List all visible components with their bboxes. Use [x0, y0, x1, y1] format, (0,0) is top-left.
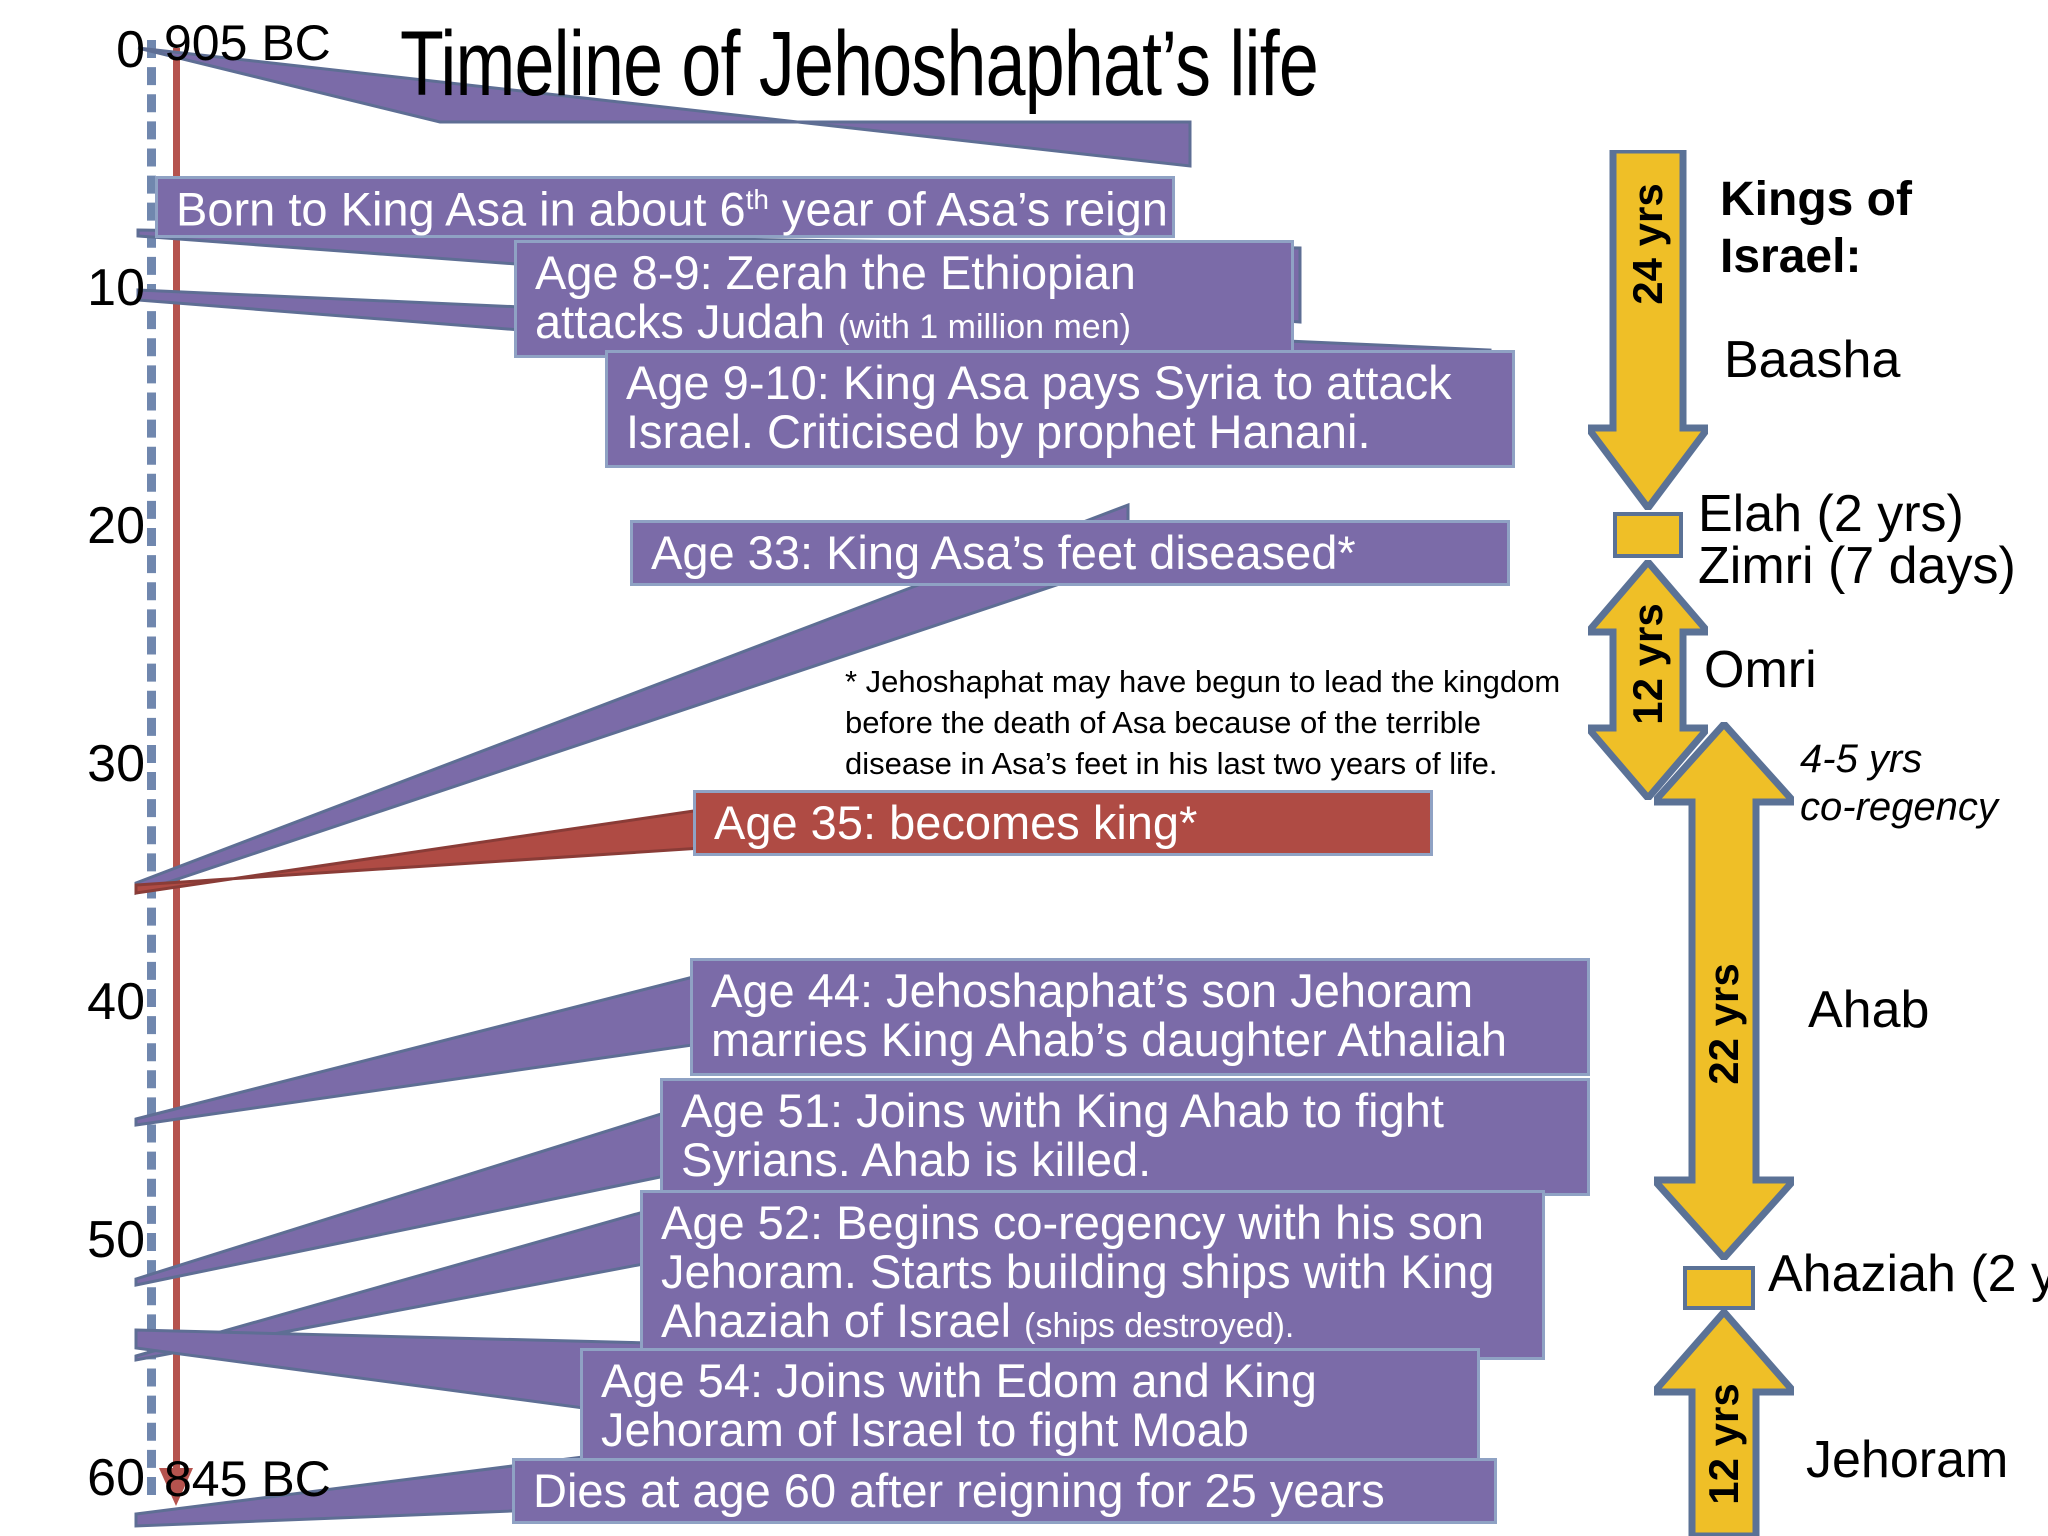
event-coregency-line3-note: (ships destroyed). [1024, 1307, 1294, 1345]
event-born-text-before: Born to King Asa in about 6 [176, 183, 746, 236]
end-year-label: 845 BC [164, 1450, 331, 1508]
event-coregency-line1: Age 52: Begins co-regency with his son [661, 1199, 1528, 1248]
event-coregency-line3-main: Ahaziah of Israel [661, 1294, 1024, 1347]
event-king-line1: Age 35: becomes king* [714, 799, 1416, 848]
start-year-label: 905 BC [164, 14, 331, 72]
king-name-jehoram: Jehoram [1806, 1430, 2008, 1490]
footnote-line3: disease in Asa’s feet in his last two ye… [845, 744, 1560, 785]
reign-duration-jehoram: 12 yrs [1700, 1371, 1748, 1517]
age-axis: 0 10 20 30 40 50 60 [0, 0, 145, 1536]
king-name-baasha: Baasha [1724, 330, 1900, 390]
event-marries-line1: Age 44: Jehoshaphat’s son Jehoram [711, 967, 1573, 1016]
event-moab-line1: Age 54: Joins with Edom and King [601, 1357, 1463, 1406]
king-name-elah: Elah (2 yrs) [1698, 484, 1964, 544]
event-zerah-line2-main: attacks Judah [535, 295, 838, 348]
event-syrians-line1: Age 51: Joins with King Ahab to fight [681, 1087, 1573, 1136]
king-name-omri: Omri [1704, 640, 1817, 700]
coregency-note: 4-5 yrs co-regency [1800, 735, 1998, 831]
coregency-note-line2: co-regency [1800, 783, 1998, 831]
event-born-text-after: year of Asa’s reign [769, 183, 1168, 236]
footnote-line1: * Jehoshaphat may have begun to lead the… [845, 662, 1560, 703]
event-syria-line2: Israel. Criticised by prophet Hanani. [626, 408, 1498, 457]
axis-tick-20: 20 [15, 496, 145, 556]
event-zerah-line1: Age 8-9: Zerah the Ethiopian [535, 249, 1277, 298]
reign-block-ahaziah [1683, 1266, 1755, 1310]
axis-tick-60: 60 [15, 1448, 145, 1508]
axis-tick-0: 0 [15, 20, 145, 80]
event-zerah-line2-note: (with 1 million men) [838, 308, 1131, 346]
leader-wedge-king [128, 785, 748, 895]
coregency-note-line1: 4-5 yrs [1800, 735, 1998, 783]
event-callout-born: Born to King Asa in about 6th year of As… [155, 176, 1175, 238]
footnote-line2: before the death of Asa because of the t… [845, 703, 1560, 744]
reign-duration-baasha: 24 yrs [1624, 181, 1672, 307]
event-syria-line1: Age 9-10: King Asa pays Syria to attack [626, 359, 1498, 408]
event-born-sup: th [746, 184, 769, 215]
reign-duration-omri: 12 yrs [1624, 601, 1672, 727]
page-title: Timeline of Jehoshaphat’s life [400, 18, 1617, 110]
timeline-diagram: Timeline of Jehoshaphat’s life 0 10 20 3… [0, 0, 2048, 1536]
event-zerah-line2: attacks Judah (with 1 million men) [535, 298, 1277, 347]
kings-of-israel-heading: Kings of Israel: [1720, 172, 1912, 285]
event-callout-dies: Dies at age 60 after reigning for 25 yea… [512, 1458, 1497, 1524]
event-callout-becomes-king: Age 35: becomes king* [693, 790, 1433, 856]
footnote: * Jehoshaphat may have begun to lead the… [845, 662, 1560, 785]
reign-duration-ahab: 22 yrs [1700, 951, 1748, 1097]
kings-heading-line1: Kings of [1720, 172, 1912, 229]
axis-tick-30: 30 [15, 734, 145, 794]
event-callout-coregency: Age 52: Begins co-regency with his son J… [640, 1190, 1545, 1360]
king-name-zimri: Zimri (7 days) [1698, 536, 2016, 596]
event-feet-line1: Age 33: King Asa’s feet diseased* [651, 529, 1493, 578]
king-name-ahaziah: Ahaziah (2 yrs) [1768, 1244, 2048, 1304]
reign-block-elah [1613, 512, 1683, 558]
event-callout-feet: Age 33: King Asa’s feet diseased* [630, 520, 1510, 586]
axis-tick-40: 40 [15, 972, 145, 1032]
event-callout-syria: Age 9-10: King Asa pays Syria to attack … [605, 350, 1515, 468]
event-coregency-line3: Ahaziah of Israel (ships destroyed). [661, 1297, 1528, 1346]
event-callout-syrians: Age 51: Joins with King Ahab to fight Sy… [660, 1078, 1590, 1196]
event-marries-line2: marries King Ahab’s daughter Athaliah [711, 1016, 1573, 1065]
event-syrians-line2: Syrians. Ahab is killed. [681, 1136, 1573, 1185]
king-name-ahab: Ahab [1808, 980, 1929, 1040]
event-callout-zerah: Age 8-9: Zerah the Ethiopian attacks Jud… [514, 240, 1294, 358]
event-callout-jehoram-marries: Age 44: Jehoshaphat’s son Jehoram marrie… [690, 958, 1590, 1076]
axis-tick-50: 50 [15, 1210, 145, 1270]
event-dies-line1: Dies at age 60 after reigning for 25 yea… [533, 1467, 1480, 1516]
event-callout-moab: Age 54: Joins with Edom and King Jehoram… [580, 1348, 1480, 1466]
event-coregency-line2: Jehoram. Starts building ships with King [661, 1248, 1528, 1297]
kings-heading-line2: Israel: [1720, 229, 1912, 286]
event-moab-line2: Jehoram of Israel to fight Moab [601, 1406, 1463, 1455]
axis-tick-10: 10 [15, 258, 145, 318]
